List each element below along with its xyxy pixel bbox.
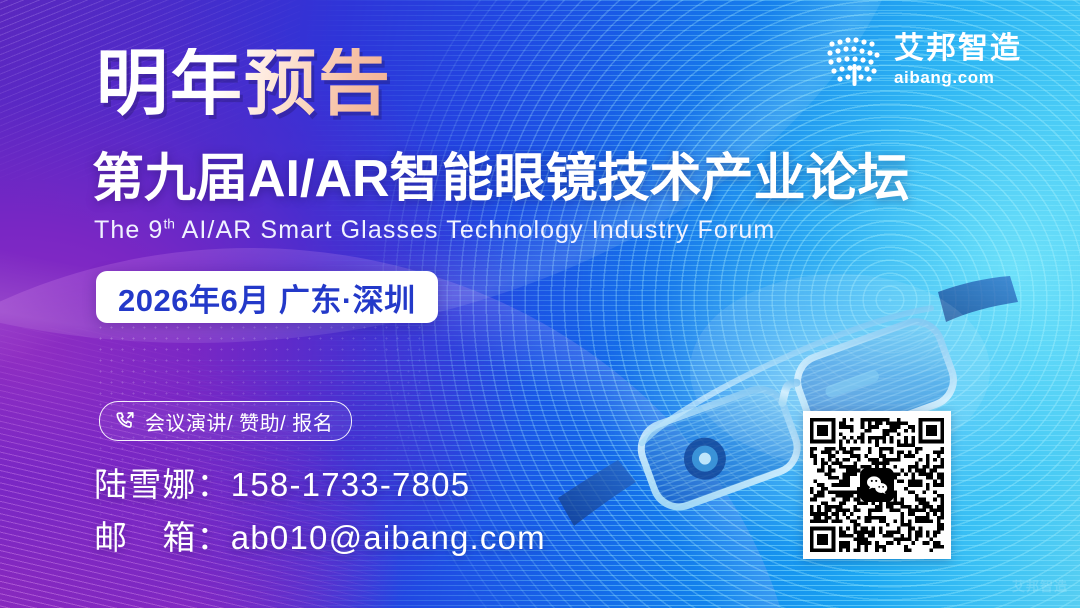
logo-text: 艾邦智造 aibang.com [894,34,1022,86]
phone-outgoing-icon [114,410,136,432]
logo-name-cn: 艾邦智造 [894,34,1022,64]
date-location-badge: 2026年6月 广东·深圳 [96,271,438,323]
contact-block: 陆雪娜：158-1733-7805 邮 箱：ab010@aibang.com [94,458,546,565]
kicker-text: 明年预告 [96,48,392,120]
date-location-text: 2026年6月 广东·深圳 [118,275,416,320]
logo-dot-matrix [826,34,882,86]
contact-phone: 陆雪娜：158-1733-7805 [94,458,546,511]
subtitle-pre: The 9 [94,216,163,244]
subtitle-post: AI/AR Smart Glasses Technology Industry … [175,216,775,244]
page-subtitle-en: The 9th AI/AR Smart Glasses Technology I… [94,216,775,245]
watermark: 艾邦智造 [1006,570,1074,600]
logo-name-en: aibang.com [894,69,1022,86]
page-title: 第九届AI/AR智能眼镜技术产业论坛 [92,150,910,208]
wechat-qr-code[interactable] [803,411,951,559]
cta-button[interactable]: 会议演讲/ 赞助/ 报名 [99,401,352,441]
aibang-dot-tree-icon [826,34,882,86]
event-promo-banner: 明年预告 第九届AI/AR智能眼镜技术产业论坛 The 9th AI/AR Sm… [0,0,1080,608]
subtitle-ordinal: th [163,217,174,232]
wechat-icon [860,468,894,502]
brand-logo: 艾邦智造 aibang.com [826,34,1022,86]
contact-email: 邮 箱：ab010@aibang.com [94,511,546,564]
cta-label: 会议演讲/ 赞助/ 报名 [145,407,333,436]
